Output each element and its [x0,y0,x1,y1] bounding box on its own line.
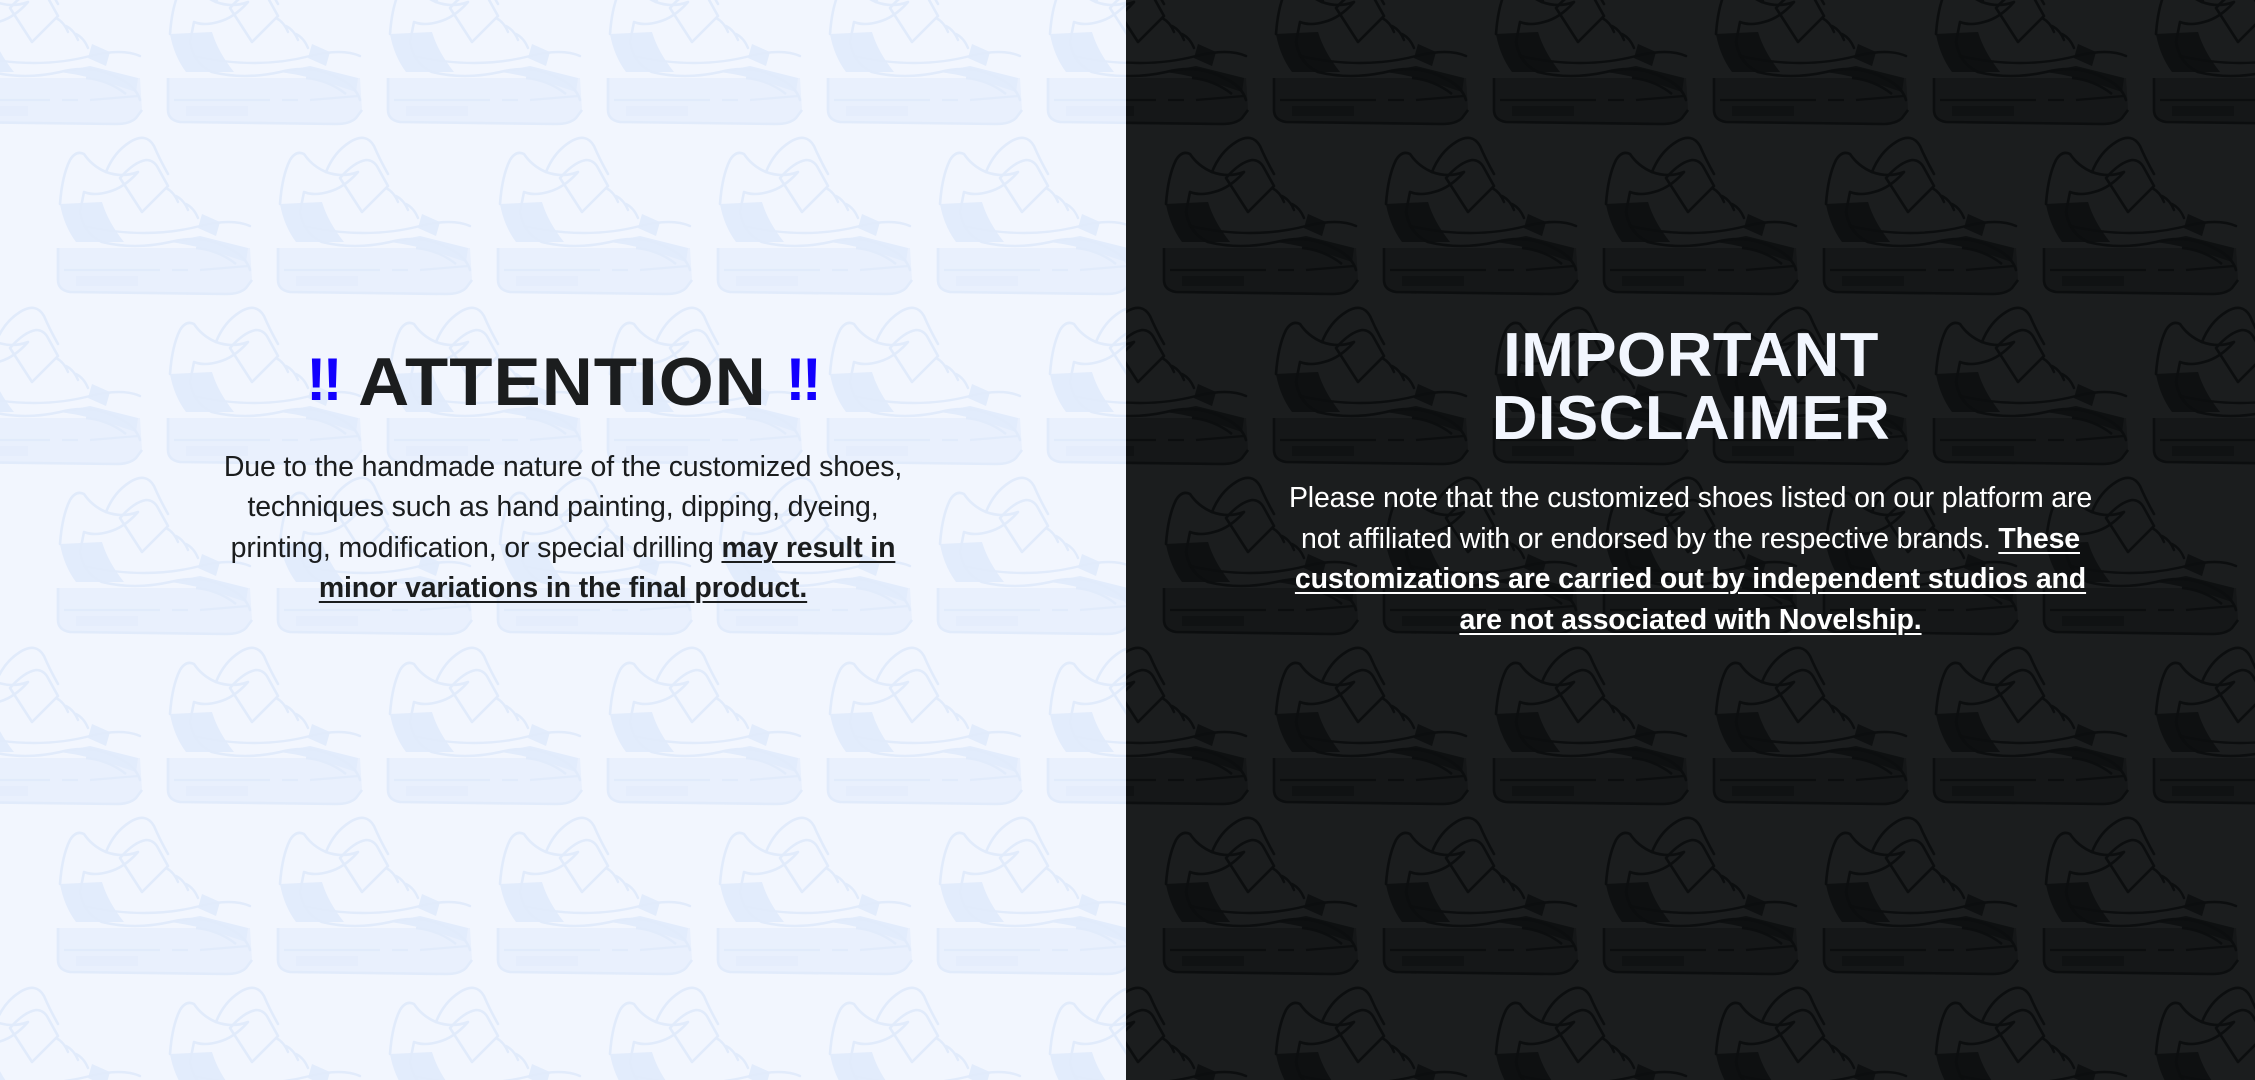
attention-content: ‼ ATTENTION ‼ Due to the handmade nature… [133,348,993,609]
attention-heading: ‼ ATTENTION ‼ [133,348,993,416]
attention-body: Due to the handmade nature of the custom… [133,447,993,609]
disclaimer-panel: IMPORTANT DISCLAIMER Please note that th… [1126,0,2255,1080]
attention-panel: ‼ ATTENTION ‼ Due to the handmade nature… [0,0,1126,1080]
disclaimer-content: IMPORTANT DISCLAIMER Please note that th… [1271,324,2111,640]
disclaimer-body: Please note that the customized shoes li… [1271,478,2111,640]
disclaimer-heading-line2: DISCLAIMER [1491,384,1890,453]
double-exclamation-left-icon: ‼ [306,350,340,410]
double-exclamation-right-icon: ‼ [786,350,820,410]
disclaimer-heading: IMPORTANT DISCLAIMER [1262,324,2119,450]
disclaimer-body-normal: Please note that the customized shoes li… [1289,482,2092,554]
attention-heading-text: ATTENTION [359,348,768,416]
customization-notice-banner: ‼ ATTENTION ‼ Due to the handmade nature… [0,0,2255,1080]
disclaimer-heading-line1: IMPORTANT [1503,321,1879,390]
